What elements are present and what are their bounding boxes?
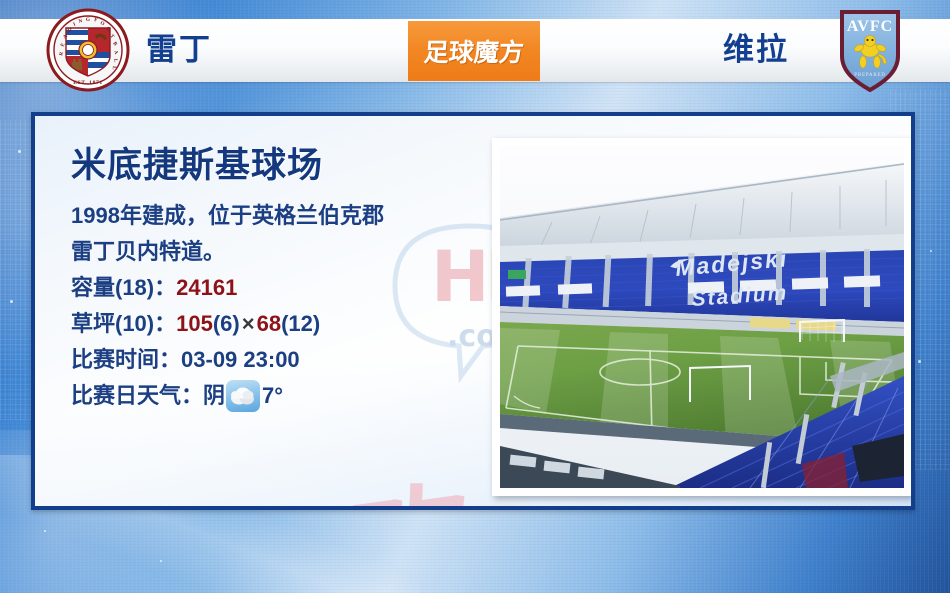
away-team-name: 维拉: [723, 30, 789, 70]
capacity-row: 容量(18)： 24161: [71, 270, 491, 306]
capacity-value: 24161: [176, 270, 237, 306]
stadium-text-block: 米底捷斯基球场 1998年建成，位于英格兰伯克郡 雷丁贝内特道。 容量(18)：…: [71, 144, 491, 414]
stadium-photo-frame: Madejski Stadium: [492, 138, 912, 496]
brand-logo-text: 足球魔方: [423, 33, 526, 69]
match-time-label: 比赛时间：: [71, 342, 181, 378]
weather-temperature: 7°: [262, 378, 283, 414]
madejski-stadium-photo: Madejski Stadium: [500, 146, 904, 488]
watermark-character: 欢: [347, 478, 483, 510]
home-team-name: 雷丁: [146, 30, 212, 70]
match-time-row: 比赛时间： 03-09 23:00: [71, 342, 491, 378]
pitch-width-rank: (12): [281, 306, 320, 342]
match-stadium-infographic: R E A D I N G F O O T B A L L EST. 1871 …: [0, 0, 950, 593]
dimension-separator: ×: [240, 306, 257, 342]
matchday-weather-label: 比赛日天气：: [71, 378, 203, 414]
stadium-info-panel: H H .com 欢 米底捷斯基球场 1998年建成，位于英格兰伯克郡 雷丁贝内…: [31, 112, 915, 510]
stadium-description-line-2: 雷丁贝内特道。: [71, 234, 491, 270]
brand-logo-badge[interactable]: 足球魔方: [408, 21, 540, 81]
matchday-weather-row: 比赛日天气： 阴 7°: [71, 378, 491, 414]
pitch-length-rank: (6): [213, 306, 240, 342]
watermark-blob: [445, 496, 565, 510]
reading-fc-crest: R E A D I N G F O O T B A L L EST. 1871: [46, 8, 130, 92]
svg-text:G: G: [86, 17, 90, 23]
pitch-length-value: 105: [176, 306, 213, 342]
cloudy-weather-icon: [226, 380, 260, 412]
match-time-value: 03-09 23:00: [181, 342, 300, 378]
stadium-description-line-1: 1998年建成，位于英格兰伯克郡: [71, 198, 491, 234]
pitch-size-label: 草坪(10)：: [71, 306, 176, 342]
svg-text:AVFC: AVFC: [847, 18, 893, 35]
weather-condition: 阴: [203, 378, 225, 414]
stadium-title: 米底捷斯基球场: [71, 144, 491, 188]
svg-text:EST. 1871: EST. 1871: [73, 80, 103, 86]
svg-text:PREPARED: PREPARED: [854, 73, 886, 78]
aston-villa-crest: AVFC PREPARED: [832, 4, 908, 94]
pitch-width-value: 68: [257, 306, 281, 342]
pitch-size-row: 草坪(10)： 105 (6) × 68 (12): [71, 306, 491, 342]
capacity-label: 容量(18)：: [71, 270, 176, 306]
